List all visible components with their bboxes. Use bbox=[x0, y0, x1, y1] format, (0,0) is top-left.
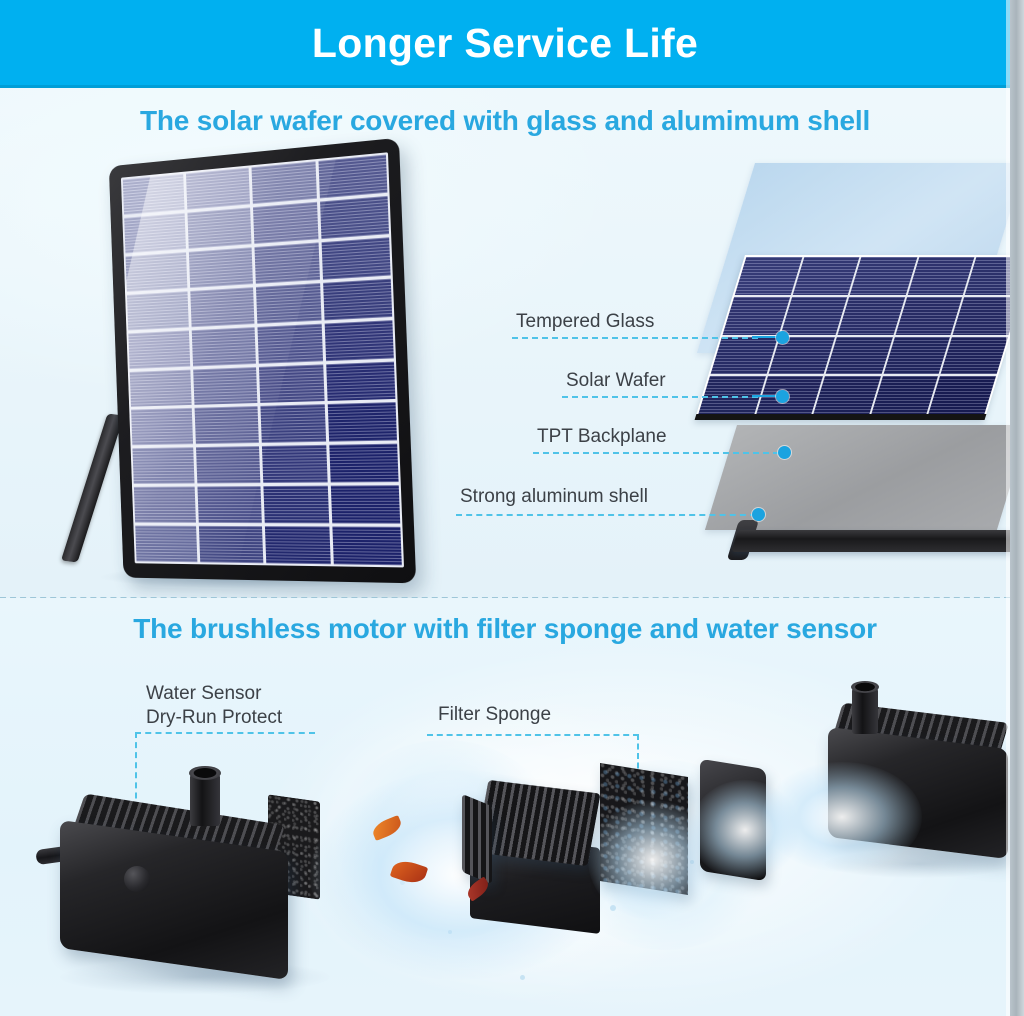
solar-cell bbox=[251, 161, 317, 204]
solar-cell bbox=[191, 327, 255, 366]
solar-cell bbox=[193, 367, 257, 406]
solar-cell bbox=[128, 330, 190, 369]
layer-solar-wafer-edge bbox=[695, 414, 987, 420]
solar-wafer-cell bbox=[711, 337, 778, 375]
solar-cell bbox=[132, 447, 194, 484]
page-title: Longer Service Life bbox=[0, 14, 1010, 72]
callout-label-filter-sponge: Filter Sponge bbox=[438, 703, 551, 727]
pump-outlet-nozzle-left bbox=[190, 772, 220, 826]
infographic-page: Longer Service Life The solar wafer cove… bbox=[0, 0, 1024, 1016]
pump-outlet-opening-right bbox=[851, 681, 879, 693]
callout-label-water-sensor: Water Sensor Dry-Run Protect bbox=[146, 682, 282, 730]
solar-wafer-cell bbox=[895, 297, 962, 335]
solar-wafer-cell bbox=[735, 257, 802, 295]
solar-cell-grid bbox=[121, 152, 404, 567]
leader-line-tpt-backplane bbox=[533, 452, 779, 454]
solar-cell bbox=[320, 196, 389, 239]
solar-wafer-cell bbox=[723, 297, 790, 335]
solar-wafer-cell bbox=[826, 337, 893, 375]
solar-cell bbox=[331, 485, 400, 523]
solar-cell bbox=[328, 402, 397, 442]
leader-dot-solar-wafer bbox=[776, 390, 789, 403]
solar-cell bbox=[264, 526, 331, 564]
solar-cell bbox=[186, 168, 250, 210]
solar-wafer-cell bbox=[792, 257, 859, 295]
solar-cell bbox=[260, 404, 326, 443]
leader-dot-aluminum-shell bbox=[752, 508, 765, 521]
layer-stack-diagram bbox=[735, 155, 1024, 575]
solar-panel-image bbox=[78, 152, 423, 582]
solar-cell bbox=[194, 406, 258, 444]
solar-panel-glass bbox=[121, 152, 404, 567]
solar-cell bbox=[326, 361, 395, 401]
solar-cell bbox=[197, 486, 261, 523]
layer-aluminum-shell bbox=[728, 520, 1024, 564]
solar-cell bbox=[254, 242, 320, 284]
solar-cell bbox=[263, 486, 330, 524]
solar-wafer-cell bbox=[929, 376, 996, 414]
leader-line-tempered-glass bbox=[512, 337, 758, 339]
bracket-top-filter-sponge bbox=[427, 734, 639, 736]
solar-cell bbox=[333, 527, 402, 566]
water-sensor-button bbox=[124, 866, 150, 892]
solar-cell bbox=[124, 213, 186, 254]
scrollbar-strip[interactable] bbox=[1010, 0, 1024, 1016]
filter-sponge-block bbox=[600, 763, 688, 895]
solar-cell bbox=[323, 278, 392, 320]
solar-cell bbox=[131, 408, 193, 445]
callout-label-tempered-glass: Tempered Glass bbox=[516, 311, 654, 333]
pump-fin-block bbox=[475, 780, 600, 866]
leader-dot-tempered-glass bbox=[776, 331, 789, 344]
solar-cell bbox=[325, 320, 394, 361]
solar-cell bbox=[135, 526, 197, 563]
solar-cell bbox=[189, 247, 253, 288]
solar-wafer-cell bbox=[908, 257, 975, 295]
solar-cell bbox=[257, 323, 323, 363]
pump-fin-side bbox=[462, 794, 492, 884]
solar-cell bbox=[127, 291, 189, 330]
solar-cell bbox=[187, 207, 251, 248]
pump-housing-right bbox=[828, 727, 1008, 859]
callout-label-solar-wafer: Solar Wafer bbox=[566, 370, 666, 392]
section-1-heading: The solar wafer covered with glass and a… bbox=[0, 105, 1010, 137]
leader-dot-tpt-backplane bbox=[778, 446, 791, 459]
pump-outlet-nozzle-right bbox=[852, 686, 878, 734]
solar-cell bbox=[196, 446, 260, 483]
solar-wafer-cell bbox=[814, 376, 881, 414]
solar-cell bbox=[126, 252, 188, 292]
solar-wafer-cell bbox=[883, 337, 950, 375]
solar-cell bbox=[322, 237, 391, 279]
callout-label-tpt-backplane: TPT Backplane bbox=[537, 426, 667, 448]
solar-wafer-cell bbox=[838, 297, 905, 335]
solar-cell bbox=[253, 202, 319, 244]
callout-label-water-sensor-line2: Dry-Run Protect bbox=[146, 706, 282, 730]
solar-wafer-cell bbox=[871, 376, 938, 414]
section-2-heading: The brushless motor with filter sponge a… bbox=[0, 613, 1010, 645]
bracket-top-water-sensor bbox=[135, 732, 315, 734]
solar-wafer-cell bbox=[941, 337, 1008, 375]
solar-cell bbox=[123, 174, 184, 215]
solar-cell bbox=[199, 526, 263, 563]
solar-cell bbox=[255, 283, 321, 324]
leader-line-aluminum-shell bbox=[456, 514, 756, 516]
solar-cell bbox=[319, 155, 388, 199]
pump-outlet-opening-left bbox=[189, 766, 221, 780]
solar-cell bbox=[134, 487, 196, 523]
solar-wafer-cell bbox=[850, 257, 917, 295]
leader-line-solar-wafer bbox=[562, 396, 758, 398]
solar-cell bbox=[258, 364, 324, 403]
callout-label-water-sensor-line1: Water Sensor bbox=[146, 682, 282, 706]
solar-wafer-cell bbox=[780, 297, 847, 335]
solar-cell bbox=[330, 444, 399, 483]
callout-label-aluminum-shell: Strong aluminum shell bbox=[460, 486, 648, 508]
solar-cell bbox=[261, 445, 328, 483]
solar-panel-frame bbox=[109, 138, 416, 584]
solar-cell bbox=[130, 369, 192, 407]
pump-motor-cover bbox=[700, 759, 766, 881]
solar-cell bbox=[190, 287, 254, 327]
